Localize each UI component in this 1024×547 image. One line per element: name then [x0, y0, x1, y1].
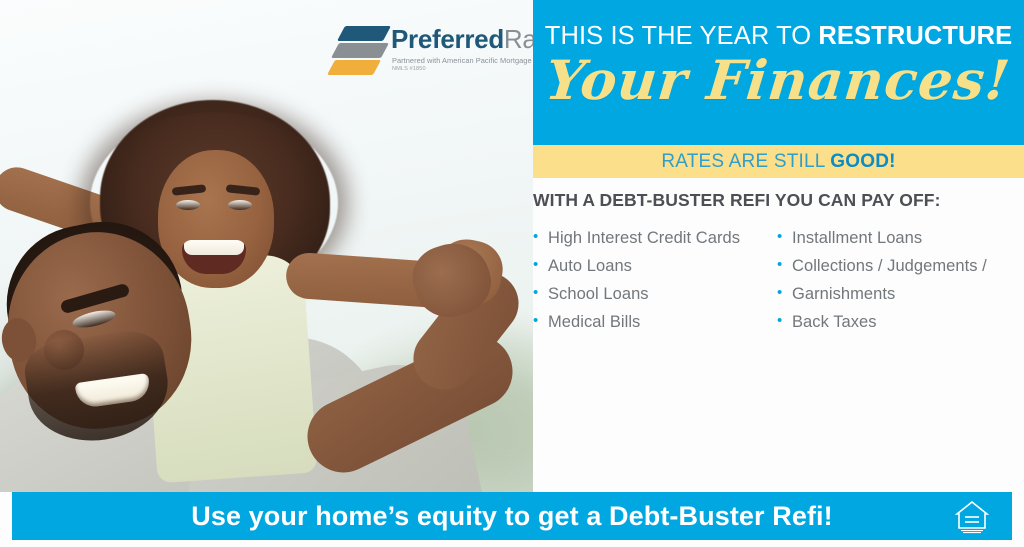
- payoff-list-right: Installment Loans Collections / Judgemen…: [777, 224, 1013, 336]
- logo-mark-icon: [333, 24, 389, 78]
- list-item: Medical Bills: [533, 308, 777, 336]
- list-item: Collections / Judgements /: [777, 252, 1013, 280]
- logo-bar-gray: [331, 43, 389, 58]
- hero-blue-panel: THIS IS THE YEAR TO RESTRUCTURE Your Fin…: [533, 0, 1024, 145]
- footer-cta-text: Use your home’s equity to get a Debt-Bus…: [191, 501, 833, 532]
- preferred-rate-logo[interactable]: PreferredRate Partnered with American Pa…: [333, 22, 515, 80]
- marketing-banner: PreferredRate Partnered with American Pa…: [0, 0, 1024, 547]
- logo-nmls-id: NMLS #1850: [392, 66, 426, 72]
- logo-tagline: Partnered with American Pacific Mortgage: [392, 56, 532, 65]
- logo-bar-gold: [327, 60, 381, 75]
- offer-headline: WITH A DEBT-BUSTER REFI YOU CAN PAY OFF:: [533, 190, 1024, 211]
- offer-column-left: High Interest Credit Cards Auto Loans Sc…: [533, 224, 777, 336]
- girl-eye: [176, 200, 200, 210]
- list-item: School Loans: [533, 280, 777, 308]
- list-item: Auto Loans: [533, 252, 777, 280]
- girl-smile: [182, 240, 246, 274]
- list-item: Installment Loans: [777, 224, 1013, 252]
- hero-script-headline: Your Finances!: [544, 53, 1014, 107]
- hero-kicker: THIS IS THE YEAR TO RESTRUCTURE: [545, 22, 1012, 51]
- list-item-line1: Collections / Judgements /: [792, 257, 987, 275]
- offer-copy: WITH A DEBT-BUSTER REFI YOU CAN PAY OFF:…: [533, 190, 1024, 336]
- logo-word-preferred: Preferred: [391, 24, 504, 54]
- offer-columns: High Interest Credit Cards Auto Loans Sc…: [533, 224, 1024, 336]
- rates-band-bold: GOOD!: [830, 151, 895, 172]
- rates-band: RATES ARE STILL GOOD!: [533, 145, 1024, 178]
- list-item-continuation: Garnishments: [777, 280, 1013, 308]
- hero-kicker-plain: THIS IS THE YEAR TO: [545, 22, 819, 50]
- payoff-list-left: High Interest Credit Cards Auto Loans Sc…: [533, 224, 777, 336]
- offer-column-right: Installment Loans Collections / Judgemen…: [777, 224, 1013, 336]
- equal-housing-opportunity-icon: [952, 498, 992, 534]
- rates-band-text: RATES ARE STILL GOOD!: [661, 151, 895, 173]
- girl-eye: [228, 200, 252, 210]
- hero-kicker-bold: RESTRUCTURE: [818, 22, 1012, 50]
- footer-cta-bar[interactable]: Use your home’s equity to get a Debt-Bus…: [12, 492, 1012, 540]
- list-item-line2: Garnishments: [792, 280, 1013, 308]
- rates-band-plain: RATES ARE STILL: [661, 151, 830, 172]
- logo-bar-navy: [337, 26, 391, 41]
- list-item: High Interest Credit Cards: [533, 224, 777, 252]
- list-item: Back Taxes: [777, 308, 1013, 336]
